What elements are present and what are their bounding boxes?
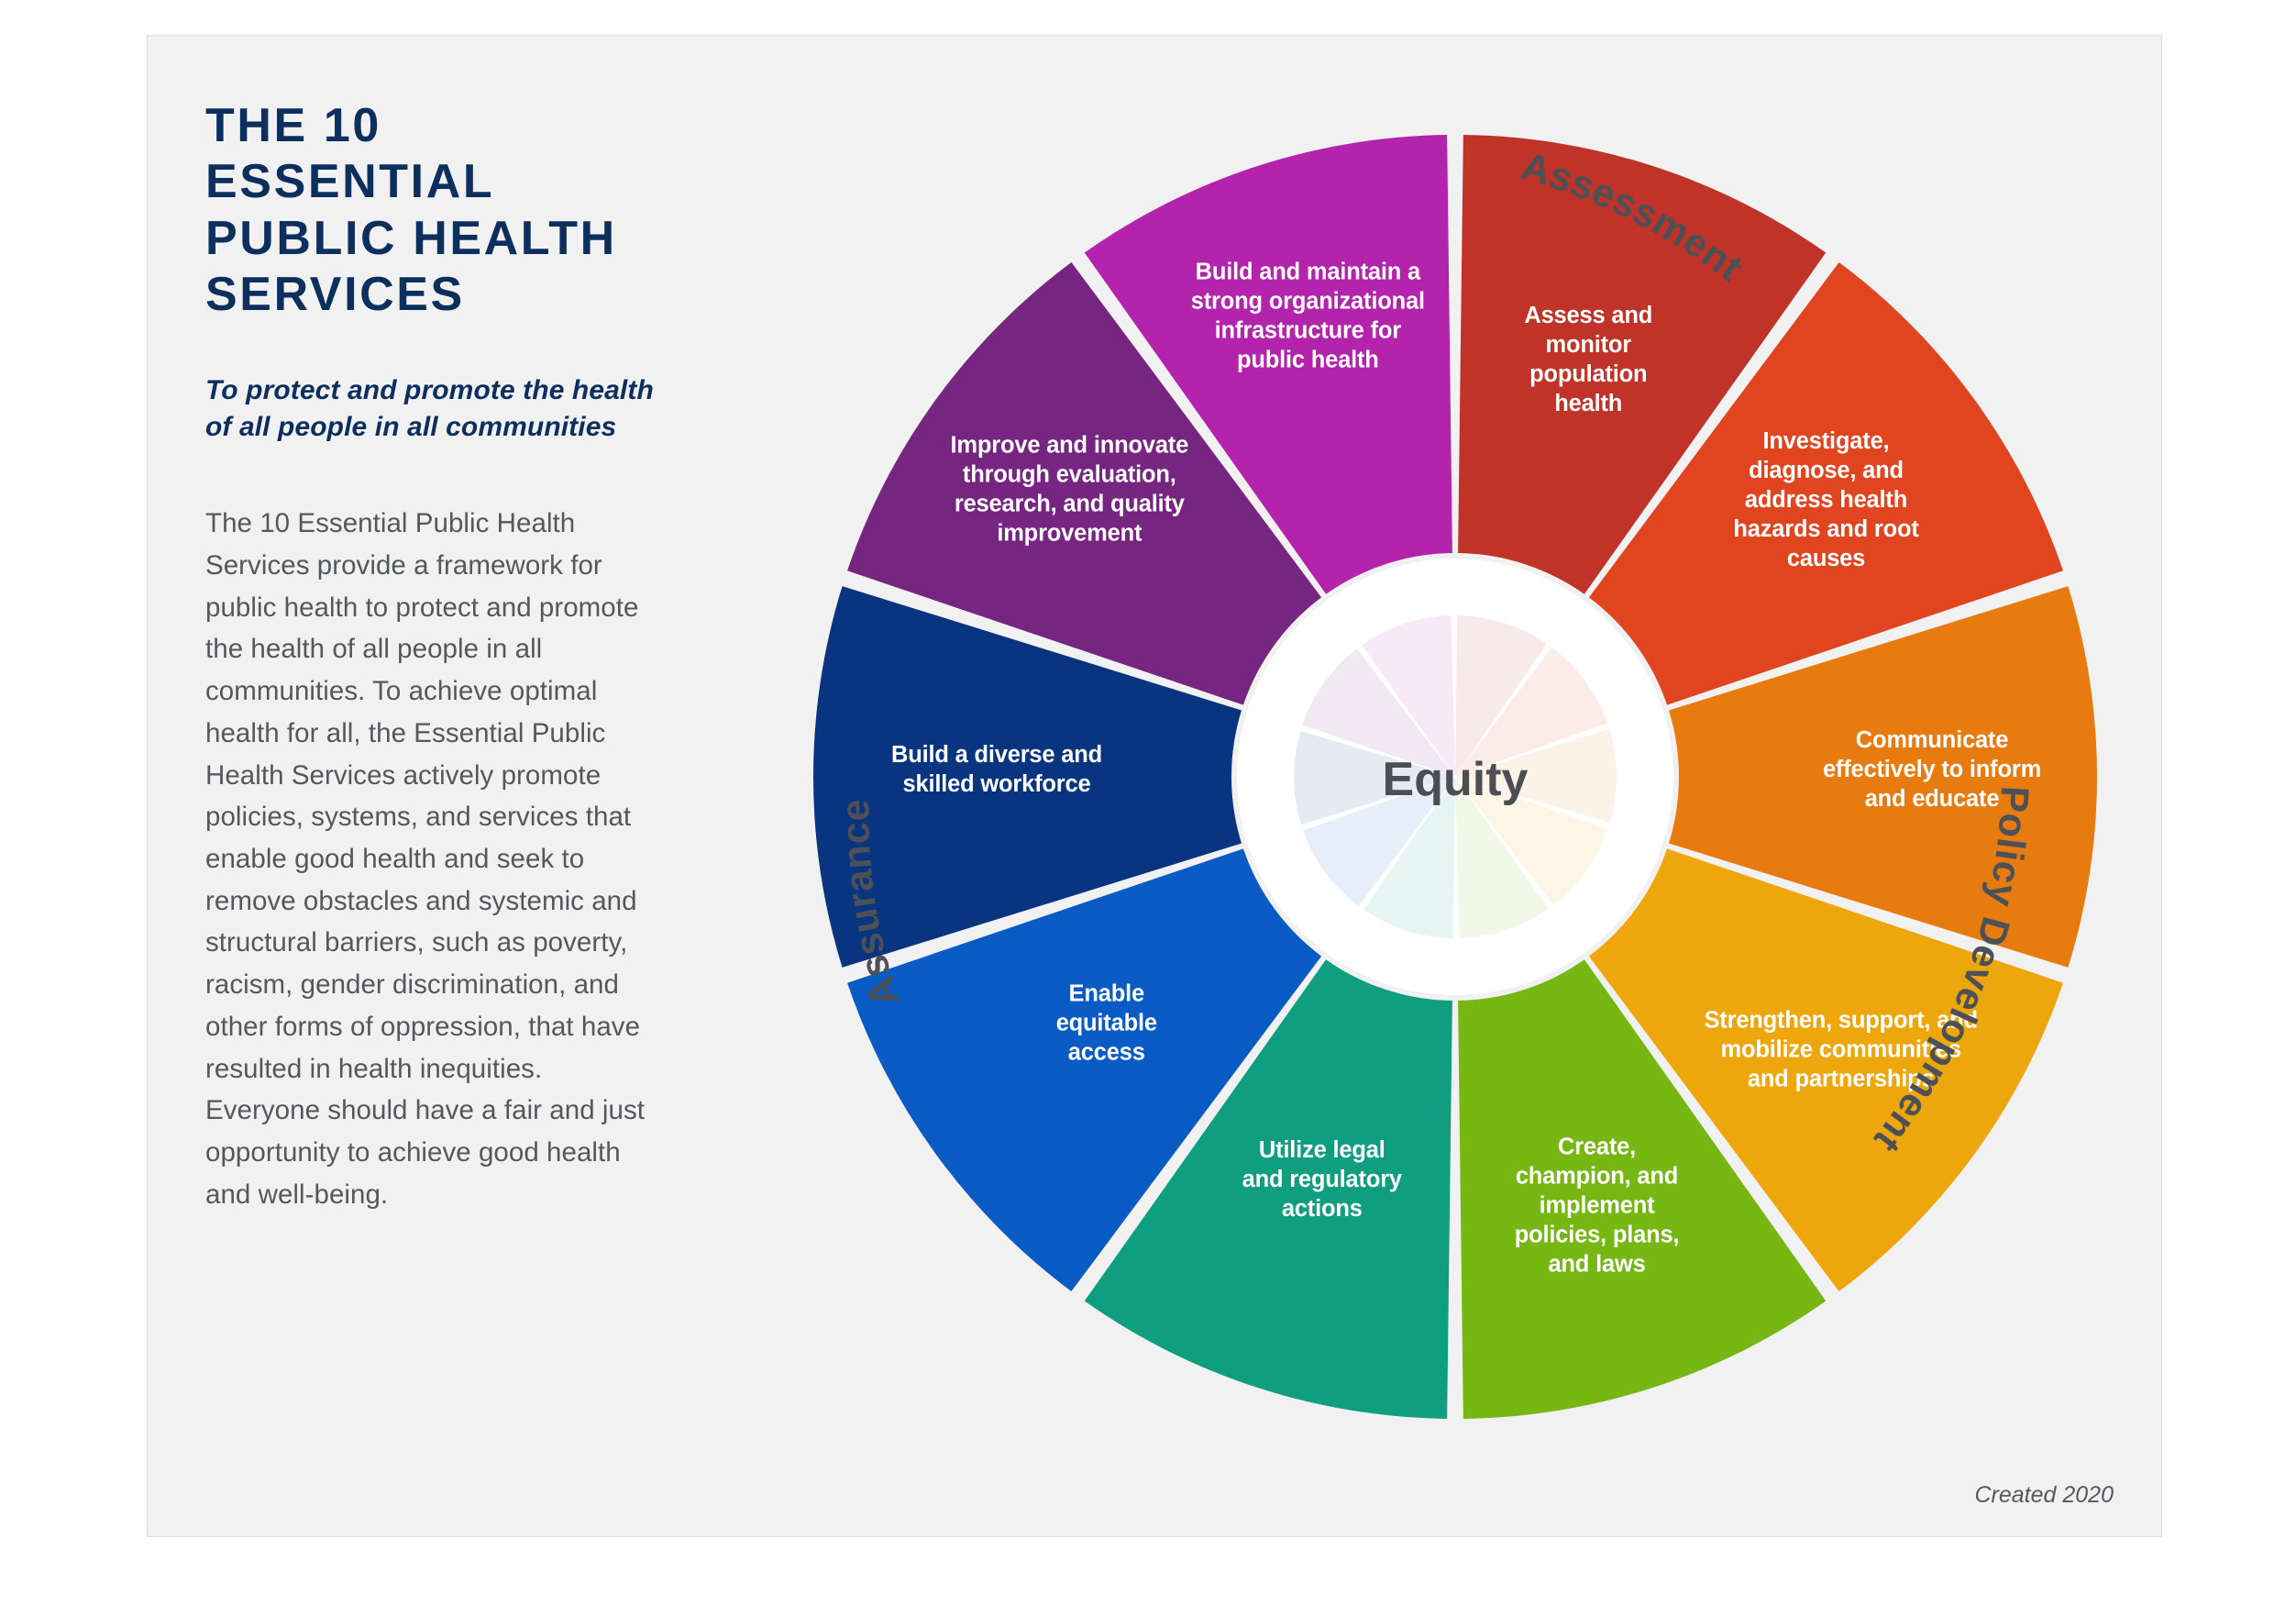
infographic-card: THE 10 ESSENTIALPUBLIC HEALTHSERVICES To… [147,35,2162,1537]
page-title: THE 10 ESSENTIALPUBLIC HEALTHSERVICES [205,98,655,323]
subtitle-tagline: To protect and promote the health of all… [205,372,655,446]
essential-services-wheel: Assess andmonitorpopulationhealthInvesti… [780,52,2156,1501]
left-text-column: THE 10 ESSENTIALPUBLIC HEALTHSERVICES To… [205,98,655,1215]
body-paragraph: The 10 Essential Public Health Services … [205,503,655,1215]
segment-label-7: Enableequitableaccess [1056,980,1157,1065]
hub-label: Equity [1383,753,1529,806]
created-date-note: Created 2020 [1974,1482,2114,1509]
wheel-svg: Assess andmonitorpopulationhealthInvesti… [780,52,2156,1501]
